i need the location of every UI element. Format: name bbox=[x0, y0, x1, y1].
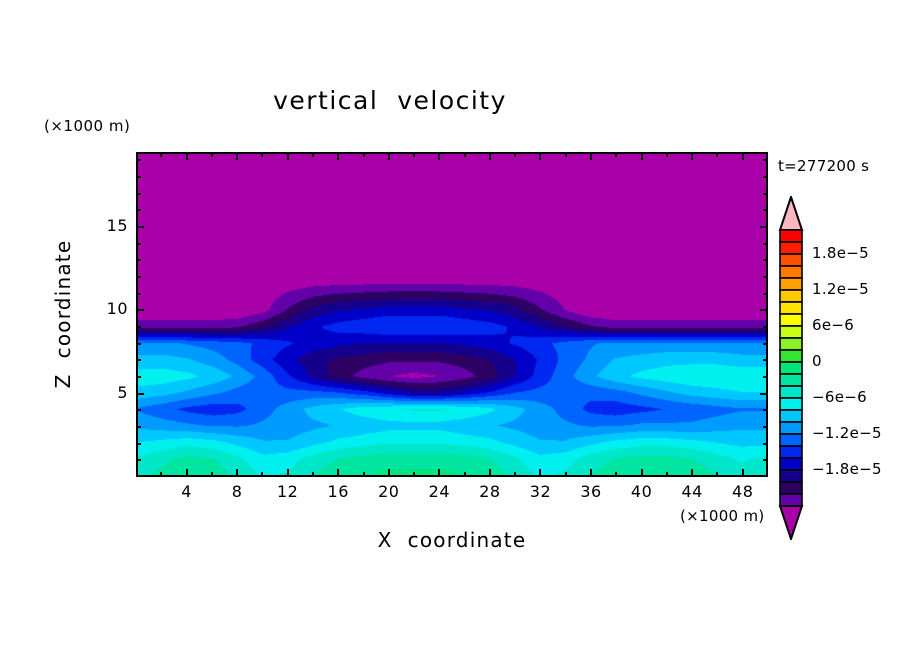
y-tick-minor-right bbox=[763, 193, 768, 195]
x-tick-major-top bbox=[539, 152, 541, 160]
x-tick-minor-top bbox=[312, 152, 314, 157]
x-tick-label: 4 bbox=[167, 482, 207, 501]
y-tick-major bbox=[136, 309, 144, 311]
x-tick-major bbox=[236, 469, 238, 477]
x-tick-label: 16 bbox=[318, 482, 358, 501]
x-tick-major bbox=[337, 469, 339, 477]
colorbar-band bbox=[780, 410, 802, 422]
colorbar-band bbox=[780, 398, 802, 410]
time-annotation: t=277200 s bbox=[778, 157, 869, 175]
x-tick-major bbox=[641, 469, 643, 477]
colorbar-band bbox=[780, 482, 802, 494]
colorbar-band bbox=[780, 350, 802, 362]
colorbar-band bbox=[780, 386, 802, 398]
colorbar-tick-label: 1.8e−5 bbox=[812, 244, 869, 262]
colorbar-band bbox=[780, 326, 802, 338]
y-tick-minor bbox=[136, 209, 141, 211]
x-tick-minor bbox=[565, 472, 567, 477]
x-tick-label: 32 bbox=[520, 482, 560, 501]
y-tick-minor-right bbox=[763, 176, 768, 178]
x-tick-minor-top bbox=[363, 152, 365, 157]
x-tick-major-top bbox=[287, 152, 289, 160]
y-tick-minor bbox=[136, 409, 141, 411]
colorbar-band bbox=[780, 422, 802, 434]
contour-field-canvas bbox=[138, 154, 766, 475]
x-tick-minor-top bbox=[413, 152, 415, 157]
y-tick-minor-right bbox=[763, 326, 768, 328]
y-tick-minor bbox=[136, 426, 141, 428]
colorbar-band bbox=[780, 362, 802, 374]
x-tick-label: 28 bbox=[470, 482, 510, 501]
colorbar-band bbox=[780, 470, 802, 482]
y-tick-minor bbox=[136, 326, 141, 328]
x-axis-title: X coordinate bbox=[136, 528, 768, 552]
y-tick-minor-right bbox=[763, 259, 768, 261]
y-tick-minor bbox=[136, 443, 141, 445]
x-tick-major-top bbox=[590, 152, 592, 160]
colorbar-tick-label: −1.2e−5 bbox=[812, 424, 882, 442]
x-tick-minor bbox=[261, 472, 263, 477]
x-tick-minor bbox=[666, 472, 668, 477]
colorbar-band bbox=[780, 446, 802, 458]
colorbar-tick-label: 6e−6 bbox=[812, 316, 854, 334]
x-tick-minor-top bbox=[716, 152, 718, 157]
x-tick-minor bbox=[363, 472, 365, 477]
x-tick-minor-top bbox=[160, 152, 162, 157]
x-tick-minor bbox=[211, 472, 213, 477]
y-tick-minor-right bbox=[763, 209, 768, 211]
colorbar-band bbox=[780, 458, 802, 470]
colorbar bbox=[778, 196, 804, 540]
x-tick-minor bbox=[160, 472, 162, 477]
x-tick-minor-top bbox=[565, 152, 567, 157]
y-tick-minor bbox=[136, 376, 141, 378]
y-tick-major-right bbox=[760, 309, 768, 311]
x-tick-minor bbox=[716, 472, 718, 477]
y-tick-minor bbox=[136, 293, 141, 295]
y-tick-major bbox=[136, 393, 144, 395]
y-tick-minor bbox=[136, 243, 141, 245]
x-tick-minor bbox=[413, 472, 415, 477]
x-tick-label: 40 bbox=[622, 482, 662, 501]
x-tick-major bbox=[388, 469, 390, 477]
colorbar-band bbox=[780, 254, 802, 266]
plot-area bbox=[136, 152, 768, 477]
x-tick-label: 8 bbox=[217, 482, 257, 501]
x-tick-major bbox=[691, 469, 693, 477]
colorbar-under-arrow bbox=[780, 506, 802, 539]
y-tick-minor bbox=[136, 193, 141, 195]
colorbar-band bbox=[780, 314, 802, 326]
colorbar-tick-label: 0 bbox=[812, 352, 822, 370]
y-tick-minor bbox=[136, 459, 141, 461]
y-tick-minor-right bbox=[763, 293, 768, 295]
x-tick-major bbox=[287, 469, 289, 477]
x-tick-minor-top bbox=[615, 152, 617, 157]
x-tick-label: 20 bbox=[369, 482, 409, 501]
x-tick-major-top bbox=[691, 152, 693, 160]
y-tick-label: 5 bbox=[102, 383, 128, 402]
x-tick-major bbox=[539, 469, 541, 477]
x-tick-minor-top bbox=[464, 152, 466, 157]
y-tick-minor-right bbox=[763, 426, 768, 428]
x-tick-minor bbox=[514, 472, 516, 477]
x-tick-label: 36 bbox=[571, 482, 611, 501]
y-tick-label: 15 bbox=[102, 216, 128, 235]
colorbar-tick-label: −6e−6 bbox=[812, 388, 867, 406]
x-tick-major bbox=[742, 469, 744, 477]
y-tick-major-right bbox=[760, 393, 768, 395]
x-tick-minor-top bbox=[514, 152, 516, 157]
x-tick-major bbox=[438, 469, 440, 477]
y-tick-minor bbox=[136, 159, 141, 161]
x-tick-minor-top bbox=[666, 152, 668, 157]
x-tick-major-top bbox=[641, 152, 643, 160]
colorbar-band bbox=[780, 242, 802, 254]
y-tick-minor-right bbox=[763, 443, 768, 445]
x-axis-units-label: (×1000 m) bbox=[680, 507, 765, 525]
x-tick-major-top bbox=[742, 152, 744, 160]
y-tick-minor bbox=[136, 276, 141, 278]
y-tick-major bbox=[136, 226, 144, 228]
x-tick-label: 44 bbox=[672, 482, 712, 501]
vertical-velocity-contour-figure: vertical velocity (×1000 m) t=277200 s 4… bbox=[0, 0, 904, 654]
x-tick-major-top bbox=[489, 152, 491, 160]
y-tick-minor-right bbox=[763, 409, 768, 411]
colorbar-band bbox=[780, 374, 802, 386]
y-tick-minor-right bbox=[763, 459, 768, 461]
x-tick-major-top bbox=[236, 152, 238, 160]
colorbar-band bbox=[780, 266, 802, 278]
y-tick-major-right bbox=[760, 226, 768, 228]
y-tick-label: 10 bbox=[102, 299, 128, 318]
y-tick-minor-right bbox=[763, 276, 768, 278]
x-tick-label: 48 bbox=[723, 482, 763, 501]
x-tick-major bbox=[489, 469, 491, 477]
page-title: vertical velocity bbox=[0, 86, 780, 115]
colorbar-over-arrow bbox=[780, 197, 802, 230]
y-tick-minor-right bbox=[763, 243, 768, 245]
colorbar-band bbox=[780, 278, 802, 290]
colorbar-band bbox=[780, 494, 802, 506]
x-tick-minor bbox=[464, 472, 466, 477]
x-tick-major-top bbox=[438, 152, 440, 160]
y-tick-minor-right bbox=[763, 159, 768, 161]
colorbar-band bbox=[780, 230, 802, 242]
x-tick-major bbox=[186, 469, 188, 477]
y-tick-minor bbox=[136, 343, 141, 345]
x-tick-minor-top bbox=[211, 152, 213, 157]
y-axis-units-label: (×1000 m) bbox=[44, 117, 130, 135]
x-tick-major bbox=[590, 469, 592, 477]
y-axis-title: Z coordinate bbox=[51, 224, 75, 404]
colorbar-band bbox=[780, 434, 802, 446]
y-tick-minor-right bbox=[763, 343, 768, 345]
x-tick-minor bbox=[615, 472, 617, 477]
y-tick-minor bbox=[136, 259, 141, 261]
colorbar-svg bbox=[778, 196, 804, 540]
x-tick-minor bbox=[312, 472, 314, 477]
x-tick-label: 12 bbox=[268, 482, 308, 501]
x-tick-major-top bbox=[186, 152, 188, 160]
x-tick-major-top bbox=[388, 152, 390, 160]
colorbar-band bbox=[780, 290, 802, 302]
colorbar-band bbox=[780, 338, 802, 350]
y-tick-minor-right bbox=[763, 376, 768, 378]
colorbar-band bbox=[780, 302, 802, 314]
x-tick-minor-top bbox=[261, 152, 263, 157]
y-tick-minor bbox=[136, 176, 141, 178]
y-tick-minor bbox=[136, 359, 141, 361]
x-tick-label: 24 bbox=[419, 482, 459, 501]
colorbar-tick-label: −1.8e−5 bbox=[812, 460, 882, 478]
x-tick-major-top bbox=[337, 152, 339, 160]
colorbar-tick-label: 1.2e−5 bbox=[812, 280, 869, 298]
y-tick-minor-right bbox=[763, 359, 768, 361]
